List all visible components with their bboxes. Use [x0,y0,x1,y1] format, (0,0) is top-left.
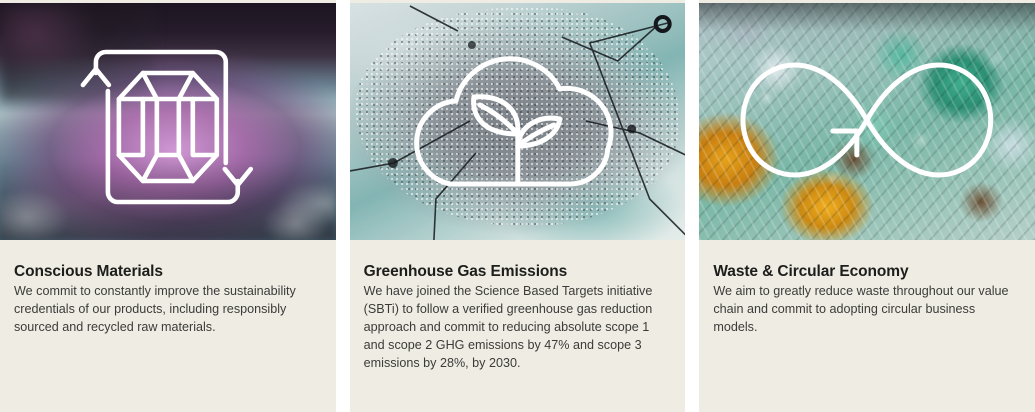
card-media-greenhouse-gas-emissions [350,3,686,240]
photo-glass-cullet [699,3,1035,240]
card-body-waste-circular-economy: Waste & Circular Economy We aim to great… [699,240,1035,412]
photo-amethyst-crystal [0,3,336,240]
card-body-greenhouse-gas-emissions: Greenhouse Gas Emissions We have joined … [350,240,686,412]
card-greenhouse-gas-emissions[interactable]: Greenhouse Gas Emissions We have joined … [350,0,686,412]
card-description: We aim to greatly reduce waste throughou… [713,283,1021,337]
card-waste-circular-economy[interactable]: Waste & Circular Economy We aim to great… [699,0,1035,412]
card-description: We commit to constantly improve the sust… [14,283,322,337]
card-conscious-materials[interactable]: Conscious Materials We commit to constan… [0,0,336,412]
card-body-conscious-materials: Conscious Materials We commit to constan… [0,240,336,412]
sustainability-cards-row: Conscious Materials We commit to constan… [0,0,1035,412]
mesh-wires-decoration [350,3,686,240]
card-title: Conscious Materials [14,262,322,281]
card-media-waste-circular-economy [699,3,1035,240]
card-description: We have joined the Science Based Targets… [364,283,672,372]
card-title: Greenhouse Gas Emissions [364,262,672,281]
card-media-conscious-materials [0,3,336,240]
card-title: Waste & Circular Economy [713,262,1021,281]
